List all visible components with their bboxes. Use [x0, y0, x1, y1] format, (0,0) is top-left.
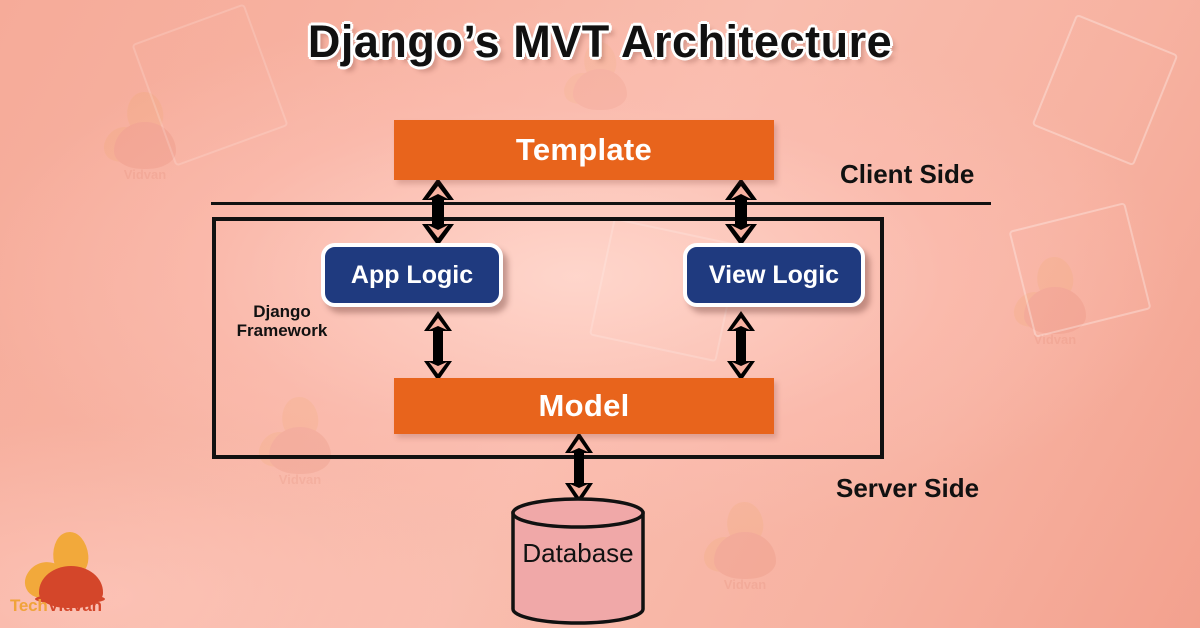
arrow-template-app-logic [421, 178, 455, 246]
brand-text-part2: Vidvan [48, 596, 102, 615]
label-server-side: Server Side [836, 473, 979, 504]
arrow-view-logic-model [726, 311, 756, 381]
page-title: Django’s MVT Architecture [0, 16, 1200, 68]
label-client-side: Client Side [840, 159, 974, 190]
arrow-template-view-logic [724, 178, 758, 246]
node-model[interactable]: Model [394, 378, 774, 434]
arrow-model-database [564, 432, 594, 504]
arrow-app-logic-model [423, 311, 453, 381]
brand-text: TechVidvan [10, 596, 130, 616]
database-label: Database [508, 538, 648, 569]
node-app-logic[interactable]: App Logic [321, 243, 503, 307]
django-framework-label: Django Framework [216, 302, 348, 340]
brand-text-part1: Tech [10, 596, 48, 615]
node-template[interactable]: Template [394, 120, 774, 180]
client-server-divider [211, 202, 991, 205]
node-view-logic[interactable]: View Logic [683, 243, 865, 307]
